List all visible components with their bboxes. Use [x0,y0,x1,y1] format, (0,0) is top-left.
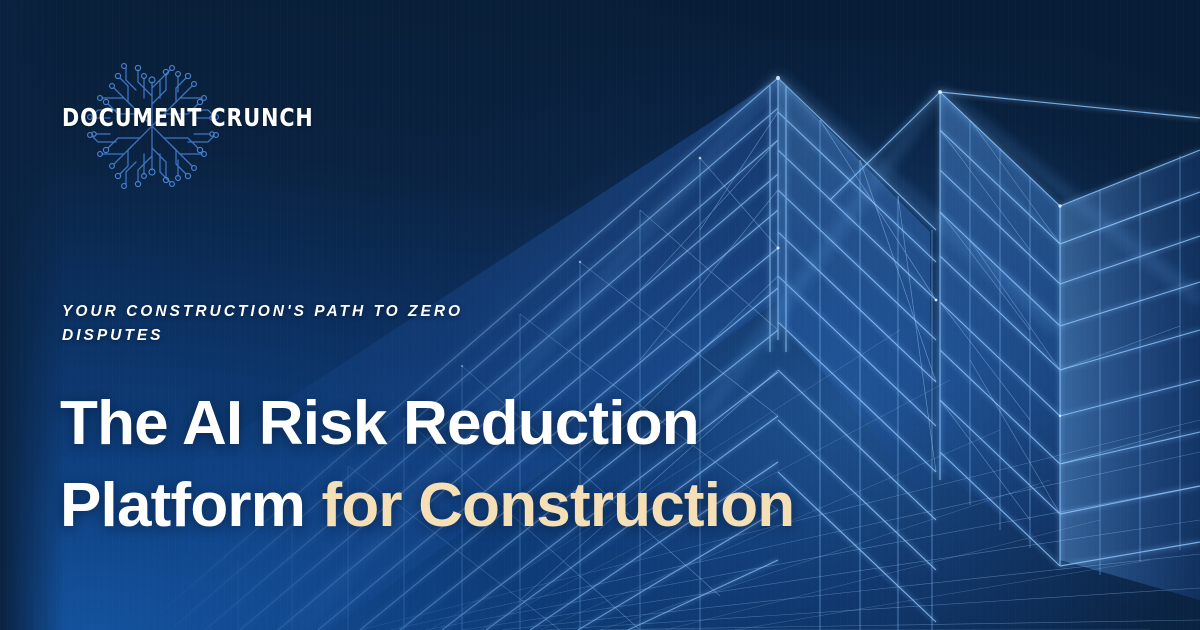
headline-line-1: The AI Risk Reduction [60,383,1100,465]
eyebrow-tagline: YOUR CONSTRUCTION'S PATH TO ZERO DISPUTE… [62,300,502,347]
brand-wordmark: DOCUMENT CRUNCH [62,105,274,130]
page-title: The AI Risk Reduction Platform for Const… [60,383,1100,547]
headline-line-2-accent: for Construction [322,471,795,540]
headline-line-2: Platform for Construction [60,465,1100,547]
brand-logo[interactable]: DOCUMENT CRUNCH [62,52,292,202]
hero-banner: DOCUMENT CRUNCH YOUR CONSTRUCTION'S PATH… [0,0,1200,630]
headline-line-2-white: Platform [60,471,322,540]
